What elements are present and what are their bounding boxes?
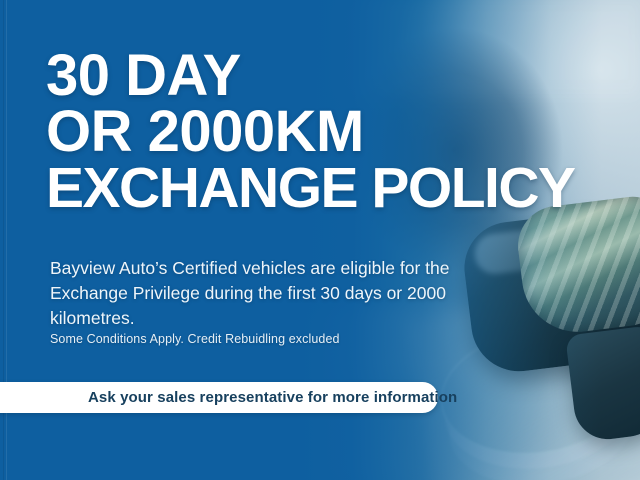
headline-line-1: 30 DAY [46,48,575,104]
fineprint-disclaimer: Some Conditions Apply. Credit Rebuidling… [50,332,340,346]
cta-button-label[interactable]: Ask your sales representative for more i… [88,389,457,406]
headline: 30 DAY OR 2000KM EXCHANGE POLICY [46,48,575,216]
headline-line-2: OR 2000KM [46,104,575,160]
headline-line-3: EXCHANGE POLICY [46,160,575,216]
banner-content: 30 DAY OR 2000KM EXCHANGE POLICY Bayview… [0,0,640,480]
exchange-policy-banner: 30 DAY OR 2000KM EXCHANGE POLICY Bayview… [0,0,640,480]
body-copy: Bayview Auto’s Certified vehicles are el… [50,256,480,331]
